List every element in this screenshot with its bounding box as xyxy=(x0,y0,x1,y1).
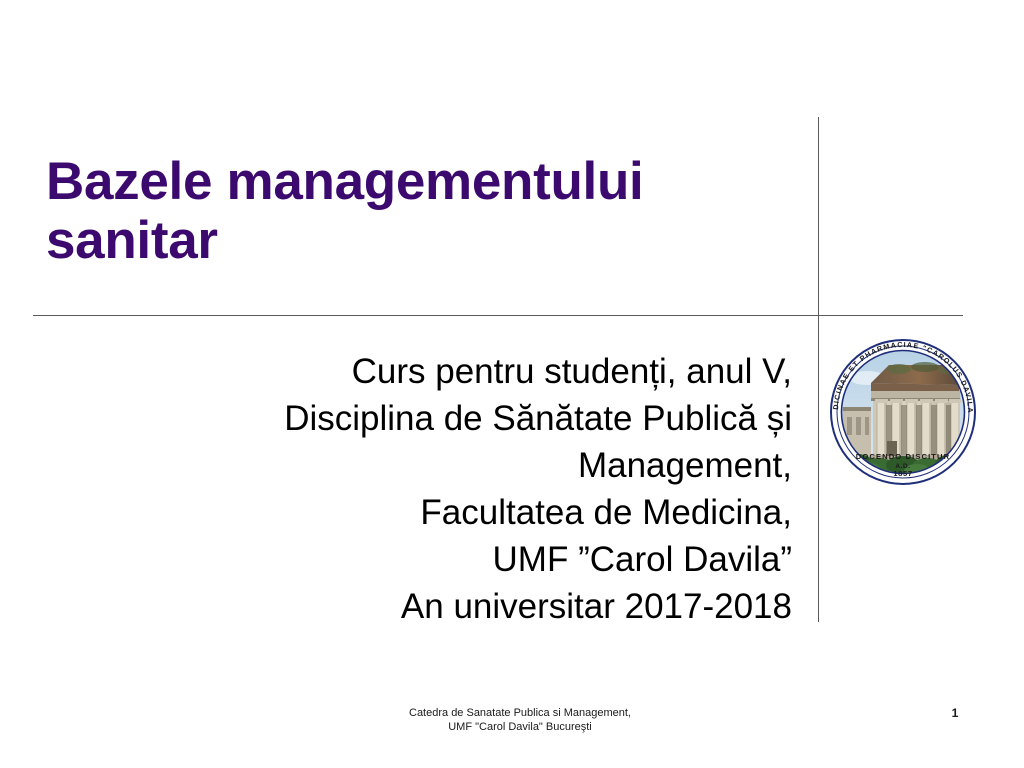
subtitle-line-5: UMF ”Carol Davila” xyxy=(60,536,792,583)
seal-motto: DOCENDO DISCITUR xyxy=(856,452,950,461)
footer-text: Catedra de Sanatate Publica si Managemen… xyxy=(250,706,790,734)
page-number: 1 xyxy=(930,706,980,720)
footer-line-2: UMF "Carol Davila" Bucureşti xyxy=(250,720,790,734)
vertical-divider-rule xyxy=(818,117,819,622)
slide-subtitle: Curs pentru studenți, anul V, Disciplina… xyxy=(60,348,792,630)
horizontal-divider-rule xyxy=(33,315,963,316)
footer-line-1: Catedra de Sanatate Publica si Managemen… xyxy=(250,706,790,720)
slide-title: Bazele managementului sanitar xyxy=(46,152,786,270)
university-seal-icon: UNIVERSITAS MEDICINAE ET PHARMACIAE "CAR… xyxy=(827,323,979,501)
subtitle-line-2: Disciplina de Sănătate Publică și xyxy=(60,395,792,442)
subtitle-line-6: An universitar 2017-2018 xyxy=(60,583,792,630)
subtitle-line-1: Curs pentru studenți, anul V, xyxy=(60,348,792,395)
title-line-1: Bazele managementului xyxy=(46,152,786,211)
subtitle-line-4: Facultatea de Medicina, xyxy=(60,489,792,536)
seal-founded-year: 1857 xyxy=(893,469,912,478)
presentation-slide: Bazele managementului sanitar Curs pentr… xyxy=(0,0,1024,768)
title-line-2: sanitar xyxy=(46,211,786,270)
subtitle-line-3: Management, xyxy=(60,442,792,489)
